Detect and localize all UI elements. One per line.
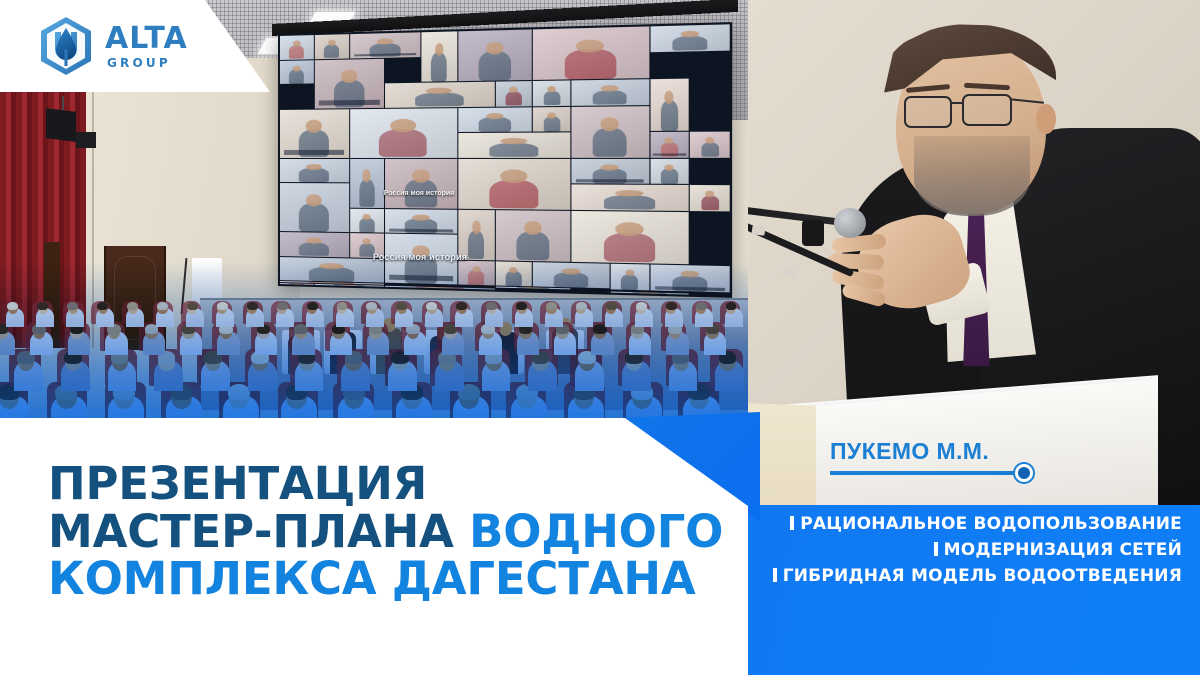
- video-feed-tile: [650, 79, 689, 131]
- eyeglasses-lens: [962, 94, 1012, 126]
- video-feed-tile: [690, 185, 730, 211]
- video-feed-tile: [385, 209, 457, 234]
- title-band: ПРЕЗЕНТАЦИЯ МАСТЕР-ПЛАНА ВОДНОГО КОМПЛЕК…: [0, 418, 748, 675]
- microphone-head: [834, 208, 866, 238]
- video-feed-tile: [315, 58, 385, 108]
- video-feed-tile: [458, 158, 570, 209]
- video-feed-tile: [571, 158, 648, 183]
- video-feed-tile: [458, 132, 570, 157]
- video-feed-tile: [421, 31, 457, 81]
- bullet-item: РАЦИОНАЛЬНОЕ ВОДОПОЛЬЗОВАНИЕ: [712, 512, 1182, 538]
- video-feed-tile: [350, 32, 421, 58]
- video-feed-tile: [690, 132, 730, 158]
- video-feed-tile: [650, 24, 730, 51]
- video-feed-tile: [280, 35, 314, 59]
- video-feed-tile: [533, 26, 649, 80]
- video-feed-tile: [650, 158, 689, 184]
- nameplate-dot-icon: [1015, 464, 1033, 482]
- microphone-ring: [752, 225, 766, 236]
- page-title: ПРЕЗЕНТАЦИЯ МАСТЕР-ПЛАНА ВОДНОГО КОМПЛЕК…: [48, 460, 723, 603]
- logo-name: ALTA: [105, 24, 188, 54]
- speaker-ear: [1036, 104, 1056, 134]
- logo-text: ALTA GROUP: [105, 24, 188, 69]
- video-feed-tile: [571, 79, 648, 105]
- video-feed-tile: [571, 184, 688, 210]
- video-feed-tile: [350, 108, 457, 158]
- microphone-clamp: [802, 220, 824, 246]
- bullet-item: ГИБРИДНАЯ МОДЕЛЬ ВОДООТВЕДЕНИЯ: [712, 564, 1182, 590]
- bullet-label: МОДЕРНИЗАЦИЯ СЕТЕЙ: [944, 540, 1182, 560]
- projector: [76, 132, 96, 148]
- video-feed-tile: [280, 60, 314, 84]
- nameplate: ПУКЕМО М.М.: [830, 440, 1056, 502]
- video-wall-caption-small: Россия моя история: [334, 190, 504, 197]
- speaker-beard: [914, 136, 1030, 216]
- bullets-list: РАЦИОНАЛЬНОЕ ВОДОПОЛЬЗОВАНИЕ МОДЕРНИЗАЦИ…: [712, 512, 1182, 589]
- bullet-marker-icon: [934, 542, 938, 556]
- nameplate-rule: [830, 471, 1024, 475]
- title-line-3-text: КОМПЛЕКСА ДАГЕСТАНА: [48, 552, 695, 605]
- video-feed-tile: [385, 158, 457, 208]
- speaker-name: ПУКЕМО М.М.: [830, 440, 1056, 463]
- title-line-2: МАСТЕР-ПЛАНА ВОДНОГО: [48, 508, 723, 556]
- eyeglasses-bridge: [951, 102, 963, 104]
- video-feed-tile: [280, 109, 349, 158]
- bullet-label: РАЦИОНАЛЬНОЕ ВОДОПОЛЬЗОВАНИЕ: [800, 514, 1182, 534]
- bullet-marker-icon: [790, 516, 794, 530]
- video-feed-tile: [571, 210, 688, 263]
- video-feed-tile: [350, 158, 385, 207]
- bullet-label: ГИБРИДНАЯ МОДЕЛЬ ВОДООТВЕДЕНИЯ: [783, 566, 1182, 586]
- video-feed-tile: [385, 82, 494, 108]
- title-line-1: ПРЕЗЕНТАЦИЯ: [48, 460, 723, 508]
- video-feed-tile: [533, 106, 570, 131]
- title-line-1-text: ПРЕЗЕНТАЦИЯ: [48, 457, 427, 510]
- water-drop-hexagon-icon: [38, 16, 94, 76]
- video-feed-tile: [650, 132, 689, 158]
- loudspeaker: [46, 108, 76, 142]
- video-feed-tile: [350, 208, 385, 232]
- video-wall-caption: Россия моя история: [330, 252, 510, 262]
- presentation-slide: Россия моя история Россия моя история: [0, 0, 1200, 675]
- title-line-2-blue: ВОДНОГО: [469, 505, 723, 558]
- video-feed-tile: [571, 106, 648, 158]
- video-feed-tile: [458, 107, 532, 132]
- video-feed-tile: [458, 29, 532, 81]
- eyeglasses-lens: [904, 96, 952, 128]
- video-feed-tile: [315, 34, 349, 59]
- title-line-2-dark: МАСТЕР-ПЛАНА: [48, 505, 454, 558]
- video-feed-tile: [533, 80, 570, 105]
- bullet-marker-icon: [773, 568, 777, 582]
- bullet-item: МОДЕРНИЗАЦИЯ СЕТЕЙ: [712, 538, 1182, 564]
- title-line-3: КОМПЛЕКСА ДАГЕСТАНА: [48, 555, 723, 603]
- video-feed-tile: [495, 81, 532, 106]
- logo-subtitle: GROUP: [107, 57, 188, 69]
- video-feed-tile: [280, 158, 349, 182]
- brand-logo[interactable]: ALTA GROUP: [38, 16, 188, 76]
